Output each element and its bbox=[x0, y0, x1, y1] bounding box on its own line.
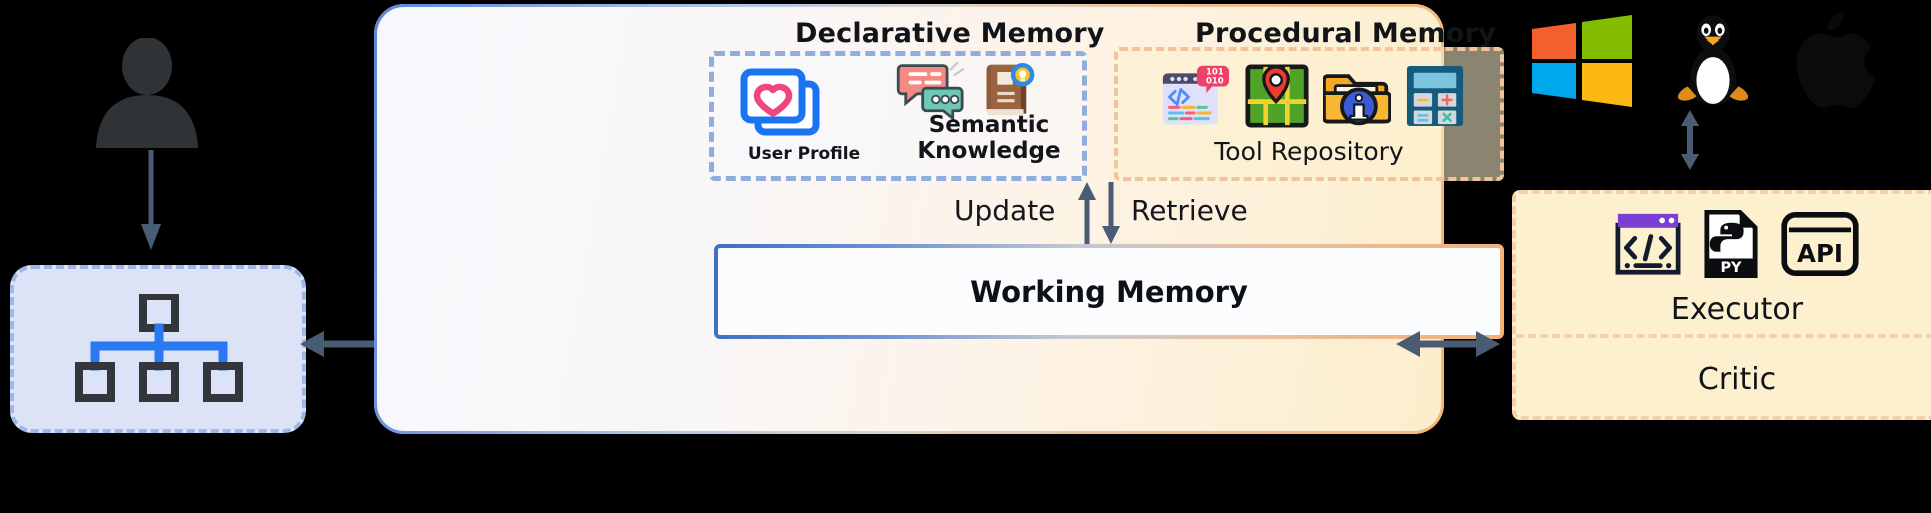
tool-repository-icons: 101 010 bbox=[1159, 62, 1465, 130]
calculator-icon bbox=[1405, 64, 1465, 128]
connector-memory-executor bbox=[1396, 321, 1500, 367]
map-pin-icon bbox=[1245, 64, 1309, 128]
svg-text:API: API bbox=[1797, 239, 1843, 268]
user-profile-caption: User Profile bbox=[724, 145, 884, 164]
code-window-icon: 101 010 bbox=[1159, 62, 1231, 130]
executor-label: Executor bbox=[1516, 292, 1931, 327]
update-retrieve-arrows bbox=[1074, 182, 1124, 244]
api-icon: API bbox=[1781, 212, 1859, 276]
retrieve-label: Retrieve bbox=[1131, 194, 1248, 227]
executor-icons: PY API bbox=[1516, 210, 1931, 278]
update-label: Update bbox=[954, 194, 1055, 227]
memory-panel: Declarative Memory Procedural Memory Use… bbox=[374, 4, 1444, 434]
hierarchy-tree-icon bbox=[73, 294, 243, 404]
user-silhouette-icon bbox=[88, 38, 206, 148]
folder-info-icon bbox=[1323, 64, 1391, 128]
arrow-os-to-executor bbox=[1678, 110, 1702, 170]
working-memory-label: Working Memory bbox=[718, 275, 1500, 309]
svg-text:101: 101 bbox=[1206, 67, 1224, 77]
svg-text:PY: PY bbox=[1720, 260, 1742, 276]
user-profile-icons bbox=[736, 66, 826, 146]
os-logos bbox=[1530, 10, 1882, 112]
procedural-memory-title: Procedural Memory bbox=[1195, 18, 1496, 49]
stacked-cards-heart-icon bbox=[736, 66, 826, 146]
svg-text:010: 010 bbox=[1206, 77, 1224, 87]
python-file-icon: PY bbox=[1703, 210, 1759, 278]
executor-critic-divider bbox=[1516, 334, 1931, 338]
critic-label: Critic bbox=[1516, 362, 1931, 397]
working-memory-box[interactable]: Working Memory bbox=[714, 244, 1504, 339]
executor-critic-panel[interactable]: PY API Executor Critic bbox=[1512, 190, 1931, 420]
planner-box[interactable] bbox=[10, 265, 306, 433]
code-editor-icon bbox=[1615, 212, 1681, 276]
declarative-memory-title: Declarative Memory bbox=[795, 18, 1105, 49]
semantic-knowledge-caption: Semantic Knowledge bbox=[894, 113, 1084, 165]
apple-logo-icon bbox=[1792, 10, 1882, 112]
tool-repository-caption: Tool Repository bbox=[1134, 138, 1484, 166]
windows-logo-icon bbox=[1530, 11, 1634, 111]
linux-penguin-icon bbox=[1674, 12, 1752, 110]
arrow-user-to-planner bbox=[140, 150, 162, 250]
